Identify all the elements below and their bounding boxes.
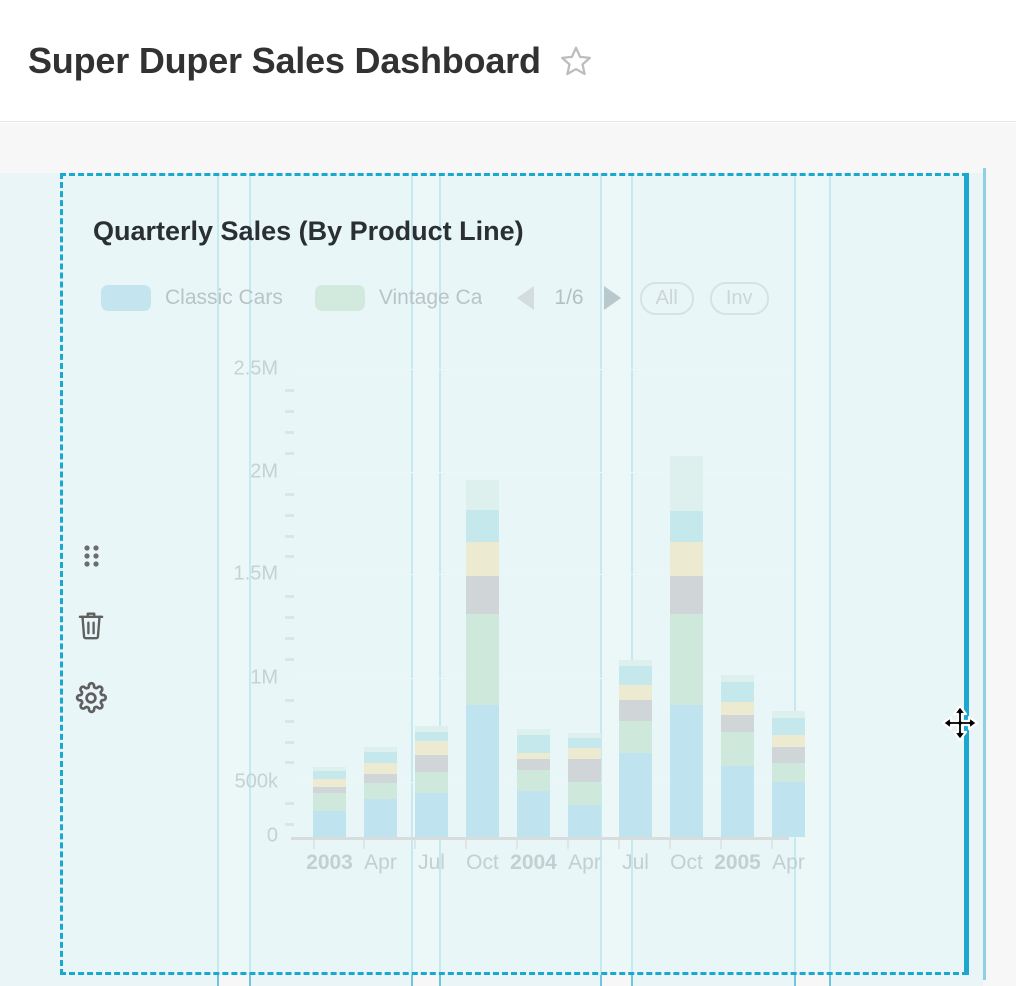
- bar-segment[interactable]: [517, 770, 550, 791]
- pager-count: 1/6: [554, 286, 583, 310]
- x-tick-label: Oct: [670, 851, 703, 875]
- bar-segment[interactable]: [517, 735, 550, 753]
- drag-handle-icon[interactable]: [78, 541, 104, 571]
- x-tick-label: Jul: [418, 851, 445, 875]
- app-header: Super Duper Sales Dashboard: [0, 0, 1016, 122]
- bar-segment[interactable]: [466, 480, 499, 509]
- x-tick-label: 2003: [306, 851, 353, 875]
- bar-segment[interactable]: [670, 705, 703, 837]
- bar-stack[interactable]: [772, 711, 805, 837]
- bar-segment[interactable]: [772, 711, 805, 718]
- move-cursor: [940, 703, 980, 743]
- bar-segment[interactable]: [415, 741, 448, 755]
- bar-segment[interactable]: [721, 715, 754, 732]
- x-axis-tick: [414, 840, 416, 849]
- bar-segment[interactable]: [772, 782, 805, 837]
- bar-stack[interactable]: [721, 675, 754, 837]
- bar-segment[interactable]: [721, 732, 754, 766]
- plot-area: 2.5M 2M 1.5M 1M 500k 0: [63, 326, 971, 946]
- bar-segment[interactable]: [568, 782, 601, 805]
- bar-segment[interactable]: [619, 721, 652, 753]
- x-axis-tick: [720, 840, 722, 849]
- bar-segment[interactable]: [466, 576, 499, 614]
- bar-segment[interactable]: [313, 787, 346, 794]
- bar-segment[interactable]: [670, 542, 703, 576]
- bar-stack[interactable]: [415, 726, 448, 837]
- legend-label: Vintage Ca: [379, 286, 483, 310]
- legend-item-vintage-cars[interactable]: Vintage Ca: [315, 285, 483, 311]
- triangle-left-icon[interactable]: [514, 283, 540, 313]
- x-tick-label: Jul: [622, 851, 649, 875]
- bar-segment[interactable]: [721, 702, 754, 715]
- bar-segment[interactable]: [364, 752, 397, 763]
- bar-stack[interactable]: [670, 456, 703, 837]
- triangle-right-icon[interactable]: [598, 283, 624, 313]
- bar-stack[interactable]: [568, 733, 601, 837]
- x-axis-tick: [516, 840, 518, 849]
- gear-icon[interactable]: [74, 681, 108, 715]
- bar-segment[interactable]: [670, 456, 703, 511]
- y-axis: 2.5M 2M 1.5M 1M 500k 0: [193, 326, 278, 856]
- legend-swatch-icon: [315, 285, 365, 311]
- x-axis-tick: [313, 840, 315, 849]
- bar-segment[interactable]: [364, 763, 397, 773]
- bar-segment[interactable]: [415, 772, 448, 793]
- bar-stack[interactable]: [619, 660, 652, 837]
- bar-segment[interactable]: [517, 753, 550, 760]
- dashboard-canvas[interactable]: Quarterly Sales (By Product Line) Classi…: [0, 123, 1016, 986]
- y-tick-label: 2M: [250, 461, 278, 484]
- x-axis-tick: [669, 840, 671, 849]
- bar-segment[interactable]: [772, 763, 805, 782]
- bar-segment[interactable]: [619, 666, 652, 685]
- trash-icon[interactable]: [75, 609, 107, 643]
- bar-segment[interactable]: [466, 510, 499, 542]
- bar-segment[interactable]: [313, 811, 346, 837]
- bar-segment[interactable]: [466, 614, 499, 705]
- bar-segment[interactable]: [568, 805, 601, 837]
- bar-segment[interactable]: [568, 759, 601, 782]
- bar-segment[interactable]: [415, 732, 448, 741]
- x-axis-tick: [567, 840, 569, 849]
- bar-stack[interactable]: [517, 729, 550, 837]
- bars-layer: [291, 326, 791, 837]
- legend-swatch-icon: [101, 285, 151, 311]
- x-tick-label: 2004: [510, 851, 557, 875]
- panel-toolbar: [71, 541, 111, 715]
- page-title: Super Duper Sales Dashboard: [28, 40, 541, 82]
- y-tick-label: 500k: [235, 771, 278, 794]
- bar-segment[interactable]: [670, 614, 703, 705]
- bar-segment[interactable]: [670, 511, 703, 542]
- bar-stack[interactable]: [364, 747, 397, 837]
- y-tick-label: 1M: [250, 667, 278, 690]
- bar-segment[interactable]: [466, 705, 499, 837]
- x-axis-tick: [771, 840, 773, 849]
- bar-segment[interactable]: [721, 682, 754, 702]
- y-tick-label: 1.5M: [234, 563, 278, 586]
- bar-segment[interactable]: [721, 766, 754, 837]
- bar-segment[interactable]: [619, 753, 652, 837]
- bar-segment[interactable]: [364, 799, 397, 837]
- chart-panel[interactable]: Quarterly Sales (By Product Line) Classi…: [60, 173, 968, 975]
- bar-segment[interactable]: [313, 793, 346, 810]
- x-tick-label: Apr: [568, 851, 601, 875]
- legend-label: Classic Cars: [165, 286, 283, 310]
- x-axis-tick: [465, 840, 467, 849]
- x-axis-tick: [363, 840, 365, 849]
- bar-segment[interactable]: [568, 748, 601, 759]
- bar-segment[interactable]: [772, 735, 805, 747]
- bar-stack[interactable]: [466, 480, 499, 837]
- bar-segment[interactable]: [670, 576, 703, 614]
- star-outline-icon[interactable]: [559, 44, 593, 78]
- legend-item-classic-cars[interactable]: Classic Cars: [101, 285, 283, 311]
- bar-stack[interactable]: [313, 767, 346, 837]
- bar-segment[interactable]: [364, 783, 397, 799]
- x-tick-label: Apr: [772, 851, 805, 875]
- x-tick-label: Apr: [364, 851, 397, 875]
- panel-resize-edge[interactable]: [964, 173, 969, 975]
- bar-segment[interactable]: [313, 779, 346, 787]
- x-axis-tick: [618, 840, 620, 849]
- x-tick-label: 2005: [714, 851, 761, 875]
- x-axis-baseline: [291, 837, 789, 840]
- bar-segment[interactable]: [415, 755, 448, 772]
- bar-segment[interactable]: [466, 542, 499, 576]
- bar-segment[interactable]: [772, 718, 805, 735]
- chart-legend: Classic Cars Vintage Ca 1/6 All Inv: [101, 281, 769, 315]
- bar-segment[interactable]: [619, 700, 652, 721]
- bar-segment[interactable]: [772, 747, 805, 763]
- bar-segment[interactable]: [415, 793, 448, 837]
- bar-segment[interactable]: [364, 774, 397, 783]
- bar-segment[interactable]: [517, 759, 550, 769]
- bar-segment[interactable]: [619, 685, 652, 700]
- x-tick-label: Oct: [466, 851, 499, 875]
- y-tick-label: 2.5M: [234, 358, 278, 381]
- bar-segment[interactable]: [517, 791, 550, 837]
- panel-ghost-edge: [983, 168, 986, 980]
- x-axis: 2003AprJulOct2004AprJulOct2005Apr: [291, 851, 791, 891]
- bar-segment[interactable]: [568, 738, 601, 748]
- y-tick-label: 0: [267, 825, 278, 848]
- bar-segment[interactable]: [313, 771, 346, 780]
- chart-title: Quarterly Sales (By Product Line): [93, 216, 524, 247]
- bar-segment[interactable]: [721, 675, 754, 682]
- select-all-button[interactable]: All: [640, 282, 694, 315]
- invert-selection-button[interactable]: Inv: [710, 282, 769, 315]
